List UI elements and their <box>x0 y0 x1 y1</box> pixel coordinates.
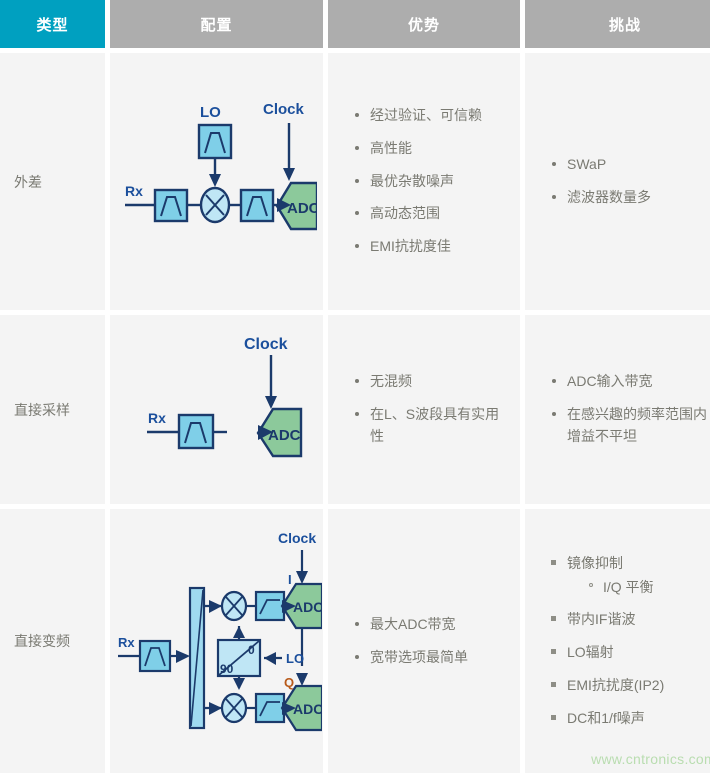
comparison-table: 类型 配置 优势 挑战 外差 <box>0 0 710 758</box>
label-90: 90 <box>220 662 234 676</box>
column-header-advantages: 优势 <box>328 0 520 48</box>
label-lo: LO <box>200 104 221 121</box>
cell-configuration-direct-sampling: Clock Rx ADC <box>110 315 323 504</box>
list-item: 在感兴趣的频率范围内增益不平坦 <box>551 404 710 447</box>
cell-configuration-direct-conversion: Clock Rx LO I Q 90 0 ADC ADC <box>110 509 323 773</box>
list-item-text: 镜像抑制 <box>567 555 623 571</box>
list-item: 在L、S波段具有实用性 <box>354 404 510 447</box>
row-type-label-direct-sampling: 直接采样 <box>0 315 105 504</box>
list-item: 带内IF谐波 <box>551 609 710 631</box>
column-header-type: 类型 <box>0 0 105 48</box>
row-type-label-direct-conversion: 直接变频 <box>0 509 105 773</box>
list-item: DC和1/f噪声 <box>551 708 710 730</box>
list-item: 滤波器数量多 <box>551 187 710 209</box>
advantages-list-heterodyne: 经过验证、可信赖 高性能 最优杂散噪声 高动态范围 EMI抗扰度佳 <box>328 105 520 257</box>
label-lo: LO <box>286 651 304 666</box>
label-rx: Rx <box>125 183 143 199</box>
heterodyne-diagram: LO Clock Rx ADC <box>117 87 317 277</box>
list-sub-item: I/Q 平衡 <box>589 577 710 598</box>
cell-challenges-direct-conversion: 镜像抑制 I/Q 平衡 带内IF谐波 LO辐射 EMI抗扰度(IP2) DC和1… <box>525 509 710 773</box>
label-q: Q <box>284 675 294 690</box>
label-adc: ADC <box>268 427 301 444</box>
cell-configuration-heterodyne: LO Clock Rx ADC <box>110 53 323 310</box>
challenges-list-heterodyne: SWaP 滤波器数量多 <box>525 154 710 208</box>
label-clock: Clock <box>263 101 305 118</box>
list-item: 镜像抑制 I/Q 平衡 <box>551 553 710 599</box>
challenges-list-direct-sampling: ADC输入带宽 在感兴趣的频率范围内增益不平坦 <box>525 371 710 447</box>
cell-challenges-heterodyne: SWaP 滤波器数量多 <box>525 53 710 310</box>
label-i: I <box>288 572 292 587</box>
list-item: EMI抗扰度佳 <box>354 236 510 258</box>
cell-advantages-direct-sampling: 无混频 在L、S波段具有实用性 <box>328 315 520 504</box>
list-item: SWaP <box>551 154 710 176</box>
column-header-configuration: 配置 <box>110 0 323 48</box>
list-item: LO辐射 <box>551 642 710 664</box>
label-clock: Clock <box>244 336 288 353</box>
list-item: 最大ADC带宽 <box>354 614 510 636</box>
challenges-list-direct-conversion: 镜像抑制 I/Q 平衡 带内IF谐波 LO辐射 EMI抗扰度(IP2) DC和1… <box>525 553 710 729</box>
label-clock: Clock <box>278 530 316 546</box>
challenges-sublist: I/Q 平衡 <box>567 577 710 598</box>
row-type-label-heterodyne: 外差 <box>0 53 105 310</box>
advantages-list-direct-conversion: 最大ADC带宽 宽带选项最简单 <box>328 614 520 668</box>
direct-sampling-diagram: Clock Rx ADC <box>117 335 317 485</box>
list-item: 经过验证、可信赖 <box>354 105 510 127</box>
list-item: 无混频 <box>354 371 510 393</box>
cell-advantages-heterodyne: 经过验证、可信赖 高性能 最优杂散噪声 高动态范围 EMI抗扰度佳 <box>328 53 520 310</box>
cell-challenges-direct-sampling: ADC输入带宽 在感兴趣的频率范围内增益不平坦 <box>525 315 710 504</box>
watermark: www.cntronics.com <box>591 751 710 767</box>
label-adc-q: ADC <box>293 701 322 717</box>
label-adc: ADC <box>287 200 317 217</box>
label-rx: Rx <box>148 410 166 426</box>
list-item: 最优杂散噪声 <box>354 171 510 193</box>
label-0: 0 <box>248 643 255 657</box>
list-item: 宽带选项最简单 <box>354 647 510 669</box>
label-adc-i: ADC <box>293 599 322 615</box>
column-header-challenges: 挑战 <box>525 0 710 48</box>
list-item: 高动态范围 <box>354 203 510 225</box>
label-rx: Rx <box>118 635 135 650</box>
advantages-list-direct-sampling: 无混频 在L、S波段具有实用性 <box>328 371 520 447</box>
list-item: ADC输入带宽 <box>551 371 710 393</box>
direct-conversion-diagram: Clock Rx LO I Q 90 0 ADC ADC <box>112 526 322 756</box>
cell-advantages-direct-conversion: 最大ADC带宽 宽带选项最简单 <box>328 509 520 773</box>
list-item: EMI抗扰度(IP2) <box>551 675 710 697</box>
list-item: 高性能 <box>354 138 510 160</box>
